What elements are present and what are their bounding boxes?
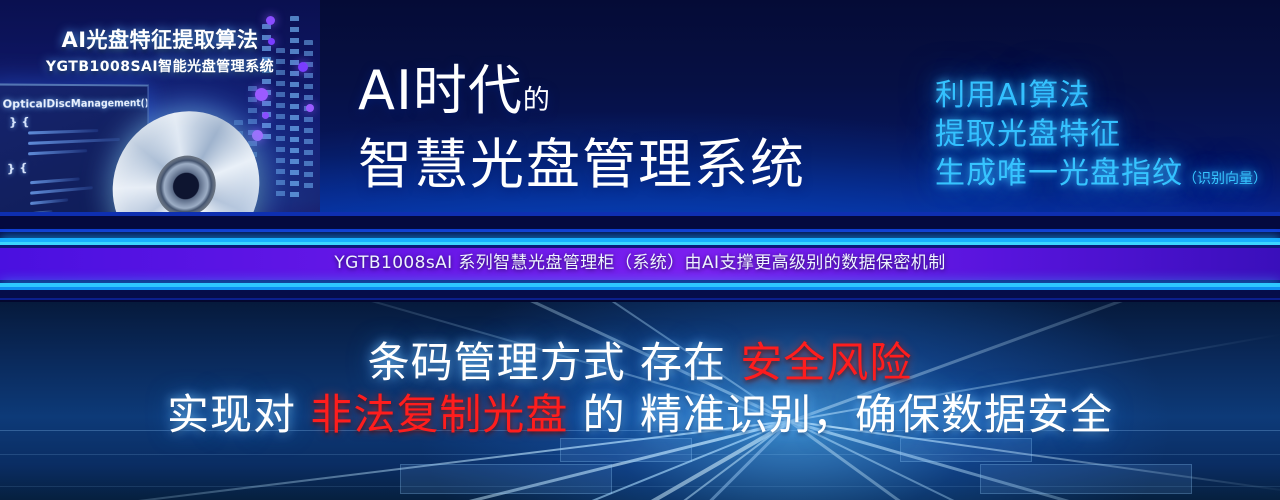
feature-list: 利用AI算法 提取光盘特征 生成唯一光盘指纹（识别向量） (935, 76, 1275, 199)
hero-headline: AI时代的 智慧光盘管理系统 (358, 62, 898, 196)
subtitle-bar-text: YGTB1008sAI 系列智慧光盘管理柜（系统）由AI支撑更高级别的数据保密机… (0, 248, 1280, 273)
floor-slab (980, 464, 1192, 494)
top-hero-section: OpticalDiscManagement() } { } { } } } (0, 0, 1280, 300)
feature-note: （识别向量） (1183, 171, 1267, 187)
code-line (28, 129, 98, 134)
headline-main-text: AI时代 (358, 59, 523, 122)
feature-item-1: 利用AI算法 (935, 76, 1275, 115)
particle-dot (262, 112, 269, 119)
bottom-line-1: 条码管理方式 存在 安全风险 (0, 337, 1280, 389)
floor-slab (900, 438, 1032, 462)
code-line (28, 138, 120, 145)
band-stripe (0, 298, 1280, 300)
particle-dot (255, 88, 268, 101)
bottom-line-2: 实现对 非法复制光盘 的 精准识别，确保数据安全 (0, 389, 1280, 441)
bottom-line2-danger: 非法复制光盘 (310, 390, 568, 439)
feature-text: 提取光盘特征 (935, 117, 1121, 152)
bottom-line1-normal: 条码管理方式 存在 (368, 338, 741, 387)
feature-text: 利用AI算法 (935, 78, 1090, 113)
code-label: OpticalDiscManagement() (3, 98, 149, 111)
bottom-line2-normal-a: 实现对 (167, 390, 310, 439)
band-stripe (0, 216, 1280, 229)
floor-line (0, 486, 1280, 487)
particle-dot (306, 104, 314, 112)
panel-subtitle: YGTB1008SAI智能光盘管理系统 (0, 56, 320, 76)
particle-dot (252, 130, 263, 141)
floor-slab (560, 438, 692, 462)
feature-item-2: 提取光盘特征 (935, 115, 1275, 154)
panel-title: AI光盘特征提取算法 (0, 24, 320, 54)
headline-line-1: AI时代的 (358, 62, 898, 130)
headline-suffix-text: 的 (523, 85, 551, 116)
floor-slab (400, 464, 612, 494)
code-line (28, 149, 87, 155)
floor-line (0, 454, 1280, 455)
code-brace-2: } { (7, 161, 28, 176)
feature-item-3: 生成唯一光盘指纹（识别向量） (935, 154, 1275, 199)
code-line (30, 198, 68, 205)
bottom-line1-danger: 安全风险 (740, 338, 912, 387)
bottom-message: 条码管理方式 存在 安全风险 实现对 非法复制光盘 的 精准识别，确保数据安全 (0, 337, 1280, 441)
feature-text: 生成唯一光盘指纹 (935, 156, 1183, 191)
code-line (30, 177, 80, 184)
headline-line-2: 智慧光盘管理系统 (358, 134, 898, 196)
bottom-line2-normal-b: 的 精准识别，确保数据安全 (568, 390, 1113, 439)
banner-root: OpticalDiscManagement() } { } { } } } (0, 0, 1280, 500)
band-stripe (0, 290, 1280, 298)
code-line (30, 186, 93, 194)
code-brace-1: } { (9, 115, 30, 129)
